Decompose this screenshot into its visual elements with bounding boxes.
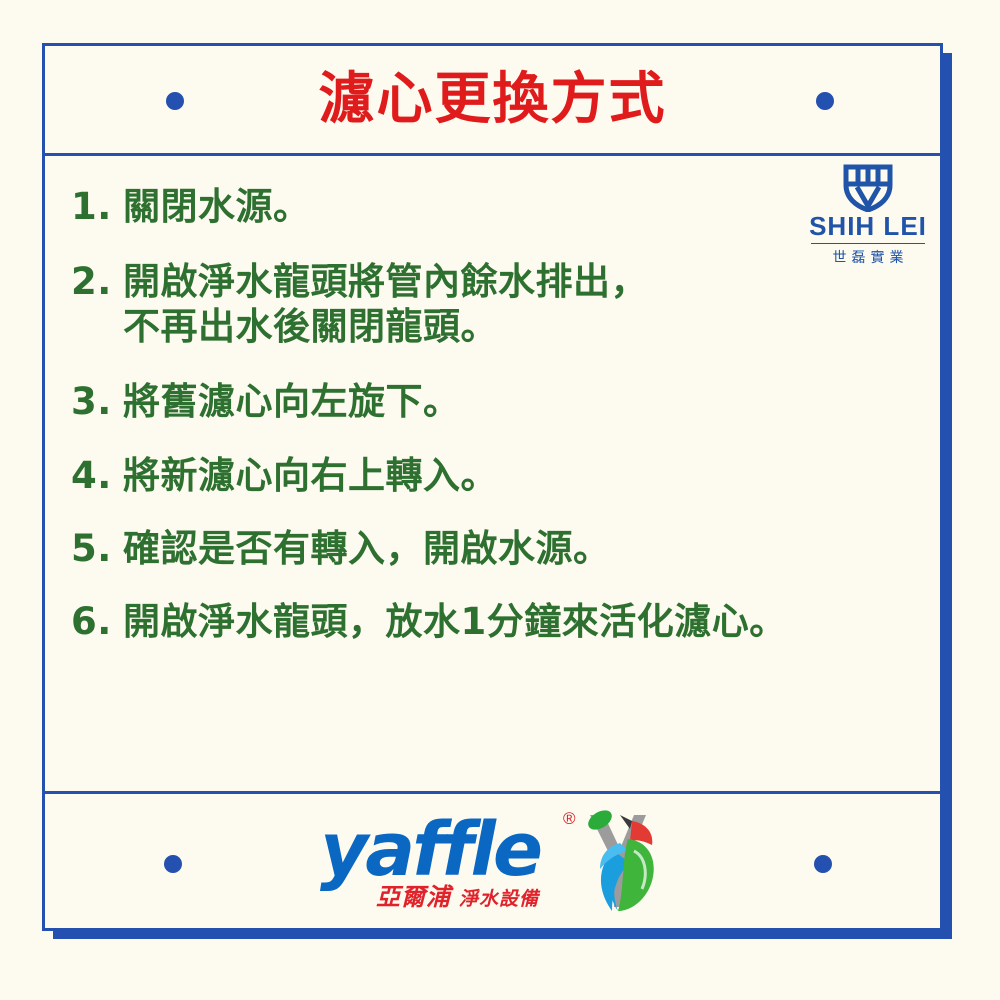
step-text: 將新濾心向右上轉入。 [123,453,940,498]
step-text: 將舊濾心向左旋下。 [123,379,940,424]
woodpecker-bird-icon [568,807,668,915]
list-item: 5. 確認是否有轉入，開啟水源。 [67,526,940,571]
poster: 濾心更換方式 SHIH LEI 世磊實業 1. 關閉水源。 [0,0,1000,1000]
poster-frame: 濾心更換方式 SHIH LEI 世磊實業 1. 關閉水源。 [42,43,943,931]
frame-shadow-bottom [53,930,952,939]
step-number: 6. [67,599,123,644]
footer-dot-right [814,855,832,873]
list-item: 6. 開啟淨水龍頭，放水1分鐘來活化濾心。 [67,599,940,644]
step-text: 關閉水源。 [123,184,940,229]
yaffle-wordmark: yaffle [320,813,540,887]
yaffle-chinese-line: 亞爾浦淨水設備 [376,877,539,912]
step-text: 確認是否有轉入，開啟水源。 [123,526,940,571]
header-dot-left [166,92,184,110]
steps-list: 1. 關閉水源。 2. 開啟淨水龍頭將管內餘水排出， 不再出水後關閉龍頭。 3.… [67,184,940,644]
step-number: 3. [67,379,123,424]
instruction-body: 1. 關閉水源。 2. 開啟淨水龍頭將管內餘水排出， 不再出水後關閉龍頭。 3.… [45,156,940,791]
step-text: 開啟淨水龍頭將管內餘水排出， 不再出水後關閉龍頭。 [123,259,940,349]
page-title: 濾心更換方式 [319,72,667,128]
list-item: 3. 將舊濾心向左旋下。 [67,379,940,424]
header-dot-right [816,92,834,110]
yaffle-chinese-main: 亞爾浦 [376,883,451,911]
step-number: 1. [67,184,123,229]
list-item: 4. 將新濾心向右上轉入。 [67,453,940,498]
yaffle-chinese-sub: 淨水設備 [451,888,539,910]
footer-dot-left [164,855,182,873]
step-text: 開啟淨水龍頭，放水1分鐘來活化濾心。 [123,599,940,644]
list-item: 1. 關閉水源。 [67,184,940,229]
step-number: 4. [67,453,123,498]
yaffle-logo: yaffle ® 亞爾浦淨水設備 [320,807,665,919]
list-item: 2. 開啟淨水龍頭將管內餘水排出， 不再出水後關閉龍頭。 [67,259,940,349]
step-number: 2. [67,259,123,304]
frame-shadow-right [943,53,952,938]
step-number: 5. [67,526,123,571]
